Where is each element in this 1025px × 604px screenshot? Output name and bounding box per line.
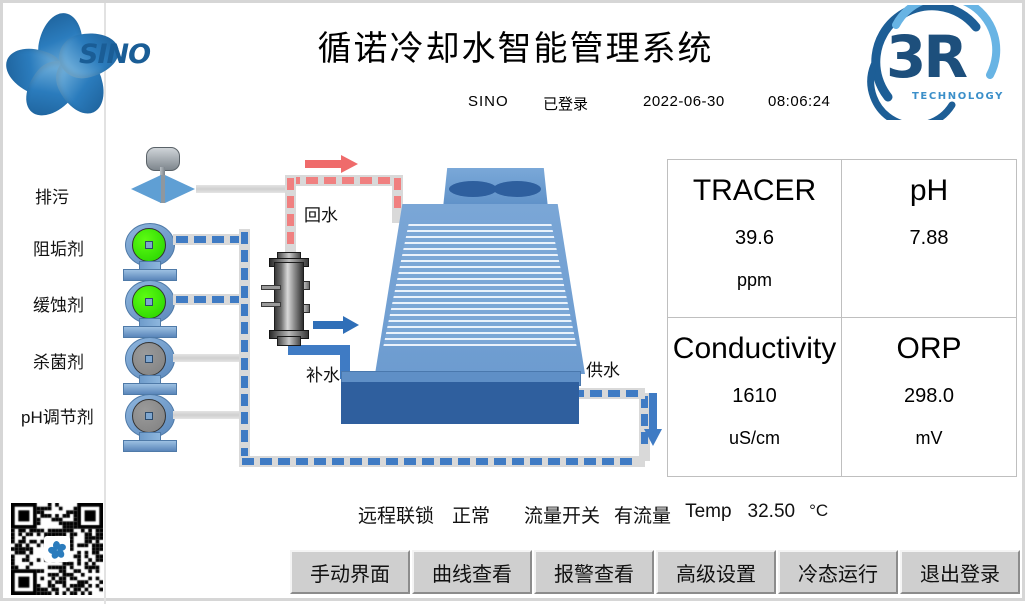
pump-antiscalant[interactable] <box>123 223 175 281</box>
pump-inhibitor[interactable] <box>123 280 175 338</box>
qr-code <box>11 503 103 595</box>
logout-button[interactable]: 退出登录 <box>900 550 1020 594</box>
equipment-label-biocide: 杀菌剂 <box>33 348 84 373</box>
vessel-bottom-cap <box>277 336 301 346</box>
blowdown-pipe <box>196 185 288 193</box>
cold-start-button[interactable]: 冷态运行 <box>778 550 898 594</box>
equipment-label-inhibitor: 缓蚀剂 <box>33 291 84 316</box>
measurement-conductivity: Conductivity 1610 uS/cm <box>668 318 842 476</box>
measurement-unit: uS/cm <box>729 428 780 449</box>
vessel-nozzle-right-upper <box>303 281 310 290</box>
pump-hub <box>145 412 153 420</box>
blowdown-valve-icon[interactable] <box>128 147 198 205</box>
measurement-value: 298.0 <box>904 385 954 408</box>
measurement-value: 39.6 <box>735 227 774 250</box>
dose-pipe-inhibitor <box>173 294 245 305</box>
label-supply-water: 供水 <box>586 356 620 381</box>
dose-pipe-antiscalant <box>173 234 245 245</box>
side-stream-filter-icon[interactable] <box>265 252 311 344</box>
equipment-label-blowdown: 排污 <box>35 183 69 208</box>
biocide-dose-pipe <box>173 354 248 362</box>
vessel-nozzle-right-lower <box>303 304 310 313</box>
measurement-value: 1610 <box>732 385 777 408</box>
pump-ph-adjust[interactable] <box>123 394 175 452</box>
measurement-value: 7.88 <box>910 227 949 250</box>
label-return-water: 回水 <box>304 201 338 226</box>
measurement-unit: mV <box>916 428 943 449</box>
measurement-tracer: TRACER 39.6 ppm <box>668 160 842 318</box>
temperature-value: 32.50 <box>748 501 796 523</box>
current-time: 08:06:24 <box>768 93 830 110</box>
trend-view-button[interactable]: 曲线查看 <box>412 550 532 594</box>
qr-center-logo <box>44 536 70 562</box>
cooling-tower <box>333 168 603 423</box>
measurement-name: ORP <box>896 332 961 365</box>
pump-biocide[interactable] <box>123 337 175 395</box>
tower-fan-housing <box>443 168 548 208</box>
ph-dose-pipe <box>173 411 248 419</box>
advanced-settings-button[interactable]: 高级设置 <box>656 550 776 594</box>
current-date: 2022-06-30 <box>643 93 725 110</box>
measurement-ph: pH 7.88 <box>842 160 1016 318</box>
pump-hub <box>145 355 153 363</box>
page-title: 循诺冷却水智能管理系统 <box>3 21 1025 70</box>
return-pipe-left <box>285 175 296 260</box>
equipment-label-antiscalant: 阻垢剂 <box>33 235 84 260</box>
temperature-unit: °C <box>809 501 828 521</box>
pump-base <box>123 440 177 452</box>
measurement-name: Conductivity <box>673 332 836 365</box>
alarm-view-button[interactable]: 报警查看 <box>534 550 654 594</box>
vessel-nozzle-left-upper <box>261 285 281 290</box>
current-user: SINO <box>468 93 509 110</box>
measurement-panel: TRACER 39.6 ppm pH 7.88 Conductivity 161… <box>667 159 1017 477</box>
pump-hub <box>145 241 153 249</box>
measurement-name: pH <box>910 174 948 207</box>
valve-body-left <box>131 175 161 203</box>
status-row: 远程联锁正常流量开关有流量Temp32.50°C <box>358 501 828 529</box>
dose-riser <box>239 229 250 467</box>
temperature-label: Temp <box>685 501 731 523</box>
manual-interface-button[interactable]: 手动界面 <box>290 550 410 594</box>
login-status: 已登录 <box>543 93 588 114</box>
flow-switch-label: 流量开关 <box>524 501 600 528</box>
return-loop-bottom <box>239 456 645 467</box>
header-status-bar: SINO 已登录 2022-06-30 08:06:24 <box>443 93 963 117</box>
interlock-label: 远程联锁 <box>358 501 434 528</box>
valve-body-right <box>165 175 195 203</box>
scada-screen: SINO 3R TECHNOLOGY 循诺冷却水智能管理系统 SINO 已登录 … <box>0 0 1025 601</box>
fan-blade-icon <box>493 181 541 197</box>
measurement-name: TRACER <box>693 174 816 207</box>
equipment-label-ph-adjust: pH调节剂 <box>21 403 94 428</box>
measurement-unit: ppm <box>737 270 772 291</box>
tower-basin <box>341 382 579 424</box>
vessel-shell <box>274 262 304 336</box>
tower-fill-louvers <box>375 224 585 346</box>
flow-switch-value: 有流量 <box>614 501 671 528</box>
measurement-orp: ORP 298.0 mV <box>842 318 1016 476</box>
pump-hub <box>145 298 153 306</box>
fan-blade-icon <box>449 181 497 197</box>
label-makeup-water: 补水 <box>306 361 340 386</box>
interlock-value: 正常 <box>452 501 490 528</box>
button-bar: 手动界面 曲线查看 报警查看 高级设置 冷态运行 退出登录 <box>290 550 1020 594</box>
vessel-nozzle-left-lower <box>261 302 281 307</box>
